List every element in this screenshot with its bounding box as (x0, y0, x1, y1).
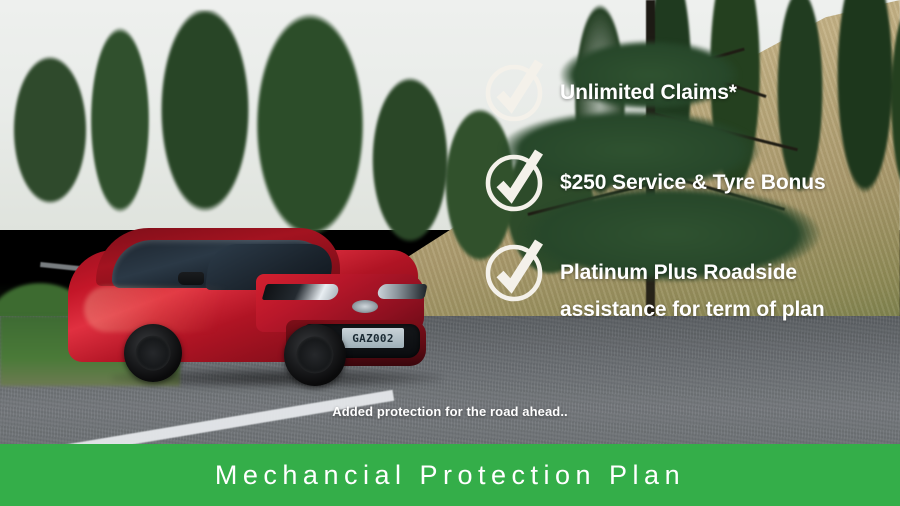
vehicle-rim (136, 336, 171, 371)
vehicle-mirror (178, 272, 204, 285)
vehicle-headlight-left (262, 284, 341, 300)
feature-list: Unlimited Claims* $250 Service & Tyre Bo… (484, 62, 884, 329)
vehicle-wheel-front (284, 324, 346, 386)
vehicle-headlight-right (376, 284, 427, 299)
check-circle-icon (484, 242, 546, 304)
feature-label: $250 Service & Tyre Bonus (560, 152, 826, 201)
feature-item: $250 Service & Tyre Bonus (484, 152, 884, 214)
vehicle-rim (296, 336, 333, 373)
check-circle-icon (484, 62, 546, 124)
footer-banner: Mechancial Protection Plan (0, 444, 900, 506)
feature-label-line2: assistance for term of plan (560, 291, 825, 328)
feature-item: Unlimited Claims* (484, 62, 884, 124)
feature-label: Platinum Plus Roadside assistance for te… (560, 242, 825, 329)
vehicle-wheel-rear (124, 324, 182, 382)
vehicle: GAZ002 (60, 228, 430, 388)
feature-label: Unlimited Claims* (560, 62, 737, 111)
tagline: Added protection for the road ahead.. (0, 404, 900, 419)
feature-item: Platinum Plus Roadside assistance for te… (484, 242, 884, 329)
license-plate-text: GAZ002 (352, 332, 394, 345)
license-plate: GAZ002 (342, 328, 404, 348)
vehicle-badge (352, 300, 378, 313)
vehicle-reflection (84, 286, 274, 332)
banner-headline: Mechancial Protection Plan (215, 460, 685, 491)
feature-label-line1: $250 Service & Tyre Bonus (560, 171, 826, 194)
promo-image: GAZ002 Unlimited Claims* (0, 0, 900, 506)
feature-label-line1: Unlimited Claims* (560, 81, 737, 104)
check-circle-icon (484, 152, 546, 214)
feature-label-line1: Platinum Plus Roadside (560, 254, 825, 291)
